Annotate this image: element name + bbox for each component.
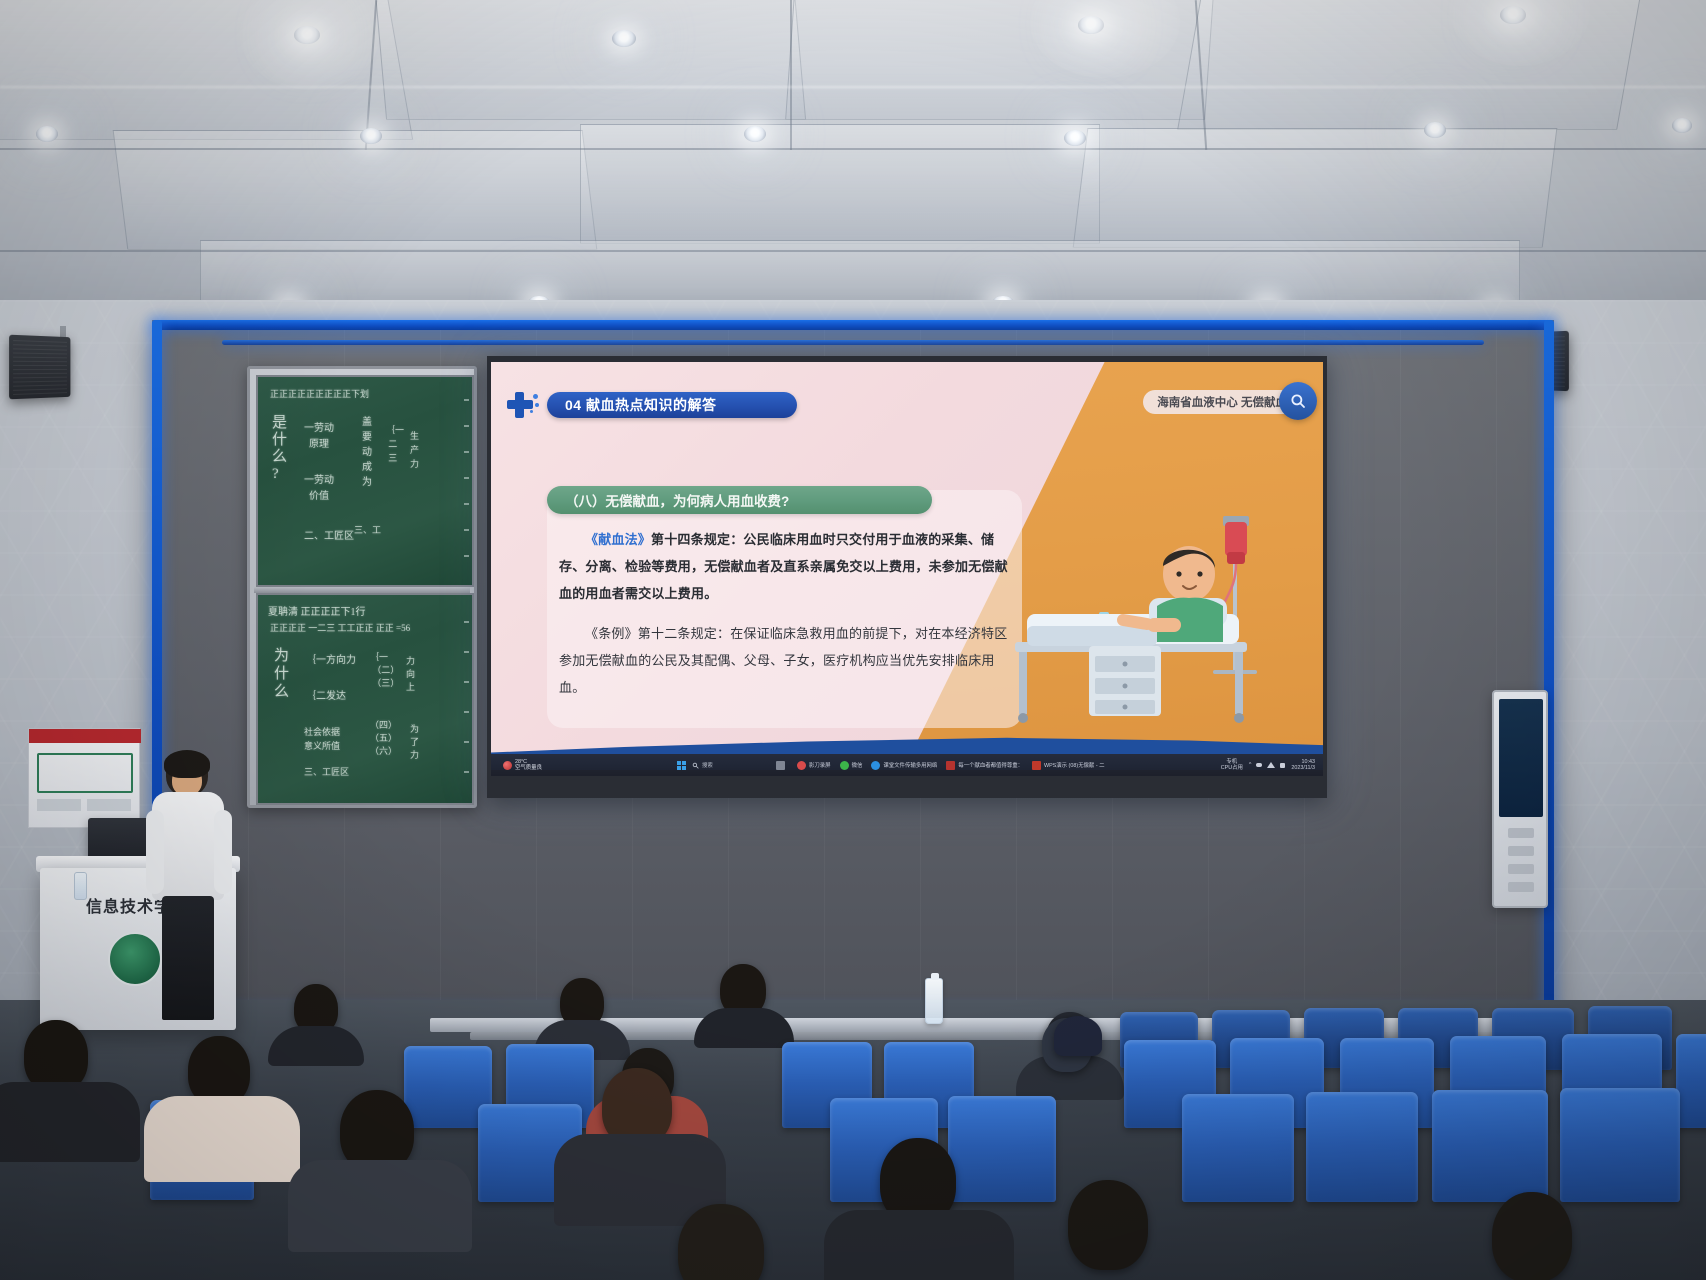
stage-frame-inner-top xyxy=(222,340,1484,345)
seat xyxy=(1182,1094,1294,1202)
water-bottle xyxy=(74,872,87,900)
network-icon[interactable] xyxy=(1267,762,1275,768)
law-reference-link[interactable]: 《献血法》 xyxy=(585,532,651,547)
patient-receiving-transfusion-illustration xyxy=(997,494,1297,724)
taskbar-item-label: 每一个献血者都值得尊重： xyxy=(958,761,1023,769)
taskbar-weather[interactable]: 28°C 空气质量良 xyxy=(503,759,542,771)
audience-head xyxy=(1492,1192,1572,1280)
seat xyxy=(1560,1088,1680,1202)
audience-shoulders xyxy=(268,1026,364,1066)
presenter-arm-left xyxy=(146,810,164,894)
audience-head xyxy=(1068,1180,1148,1270)
taskbar-app-list[interactable]: 影刀录屏 微信 课堂文件传输多用网络 每一个献血者都值得尊重： WPS演示 (0… xyxy=(776,761,1105,770)
red-cross-icon xyxy=(505,388,541,422)
slide-paragraph-1: 《献血法》第十四条规定：公民临床用血时只交付用于血液的采集、储存、分离、检验等费… xyxy=(559,526,1011,607)
taskbar-item-word-doc[interactable]: 每一个献血者都值得尊重： xyxy=(946,761,1023,770)
wall-display-button[interactable] xyxy=(1508,882,1534,892)
ceiling-light xyxy=(1078,16,1104,34)
ceiling-light xyxy=(1672,118,1692,133)
weather-icon xyxy=(503,761,512,770)
ceiling-light xyxy=(612,30,636,47)
stage-frame-right xyxy=(1544,320,1554,1020)
weather-label: 空气质量良 xyxy=(515,765,542,771)
audience-shoulders xyxy=(144,1096,300,1182)
blackboard: 正正正正正正正正正下划 是什么? 一劳动 原理 一劳动 价值 二、工匠区 盖要动… xyxy=(247,366,477,808)
chevron-up-icon[interactable]: ^ xyxy=(1249,762,1252,768)
windows-start-icon[interactable] xyxy=(677,761,686,770)
seat xyxy=(948,1096,1056,1202)
search-icon[interactable] xyxy=(1279,382,1317,420)
shelf-header-label xyxy=(29,729,141,743)
seat xyxy=(1432,1090,1548,1202)
presenter-trousers xyxy=(162,896,214,1020)
audience-head-with-cap xyxy=(1054,1016,1102,1056)
water-bottle-on-desk xyxy=(925,978,943,1024)
slide-question-heading: （八）无偿献血，为何病人用血收费? xyxy=(547,486,932,514)
wall-display-button[interactable] xyxy=(1508,846,1534,856)
slide-section-title: 04 献血热点知识的解答 xyxy=(547,392,797,418)
presentation-slide: 04 献血热点知识的解答 海南省血液中心 无偿献血 （八）无偿献血，为何病人用血… xyxy=(491,362,1323,770)
taskbar-item-wechat[interactable]: 微信 xyxy=(840,761,863,770)
windows-taskbar[interactable]: 28°C 空气质量良 搜索 xyxy=(491,754,1323,776)
word-icon xyxy=(946,761,955,770)
slide-header: 04 献血热点知识的解答 xyxy=(505,388,797,422)
ppt-icon xyxy=(1032,761,1041,770)
presenter xyxy=(148,752,240,1020)
blackboard-pane-top: 正正正正正正正正正下划 是什么? 一劳动 原理 一劳动 价值 二、工匠区 盖要动… xyxy=(256,375,474,587)
audience-shoulders xyxy=(694,1008,794,1048)
task-view-icon xyxy=(776,761,785,770)
audience-head xyxy=(678,1204,764,1280)
lecture-hall-photo: 正正正正正正正正正下划 是什么? 一劳动 原理 一劳动 价值 二、工匠区 盖要动… xyxy=(0,0,1706,1280)
volume-icon[interactable] xyxy=(1280,763,1285,768)
ceiling-light xyxy=(1424,122,1446,138)
seat xyxy=(1306,1092,1418,1202)
wall-control-display[interactable] xyxy=(1492,690,1548,908)
taskbar-item-wps-ppt[interactable]: WPS演示 (08)无偿献 - 二 xyxy=(1032,761,1105,770)
clock-date: 2023/11/3 xyxy=(1291,765,1315,771)
wall-display-button[interactable] xyxy=(1508,828,1534,838)
taskbar-clock[interactable]: 10:43 2023/11/3 xyxy=(1291,759,1315,771)
audience-shoulders xyxy=(288,1160,472,1252)
taskbar-system-tray[interactable]: 专机 CPU占用 ^ 10:43 2023/11/3 xyxy=(1221,759,1315,771)
taskbar-item-task-view[interactable] xyxy=(776,761,788,770)
cloud-icon[interactable] xyxy=(1256,763,1262,767)
ceiling-light xyxy=(360,128,382,144)
taskbar-item-label: WPS演示 (08)无偿献 - 二 xyxy=(1044,761,1105,769)
taskbar-search-placeholder: 搜索 xyxy=(702,761,713,769)
cpu-indicator[interactable]: 专机 CPU占用 xyxy=(1221,759,1243,771)
wall-speaker-left xyxy=(9,335,70,400)
taskbar-item-label: 影刀录屏 xyxy=(809,761,831,769)
ceiling-light xyxy=(1064,130,1086,146)
presenter-hair xyxy=(164,750,210,778)
ceiling-light xyxy=(36,126,58,142)
taskbar-item-label: 课堂文件传输多用网络 xyxy=(883,761,937,769)
ceiling-light xyxy=(744,126,766,142)
taskbar-item-wps-office[interactable]: 影刀录屏 xyxy=(797,761,831,770)
audience-shoulders xyxy=(0,1082,140,1162)
seat xyxy=(1676,1034,1706,1128)
audience-shoulders xyxy=(824,1210,1014,1280)
wall-display-button[interactable] xyxy=(1508,864,1534,874)
equipment-shelf xyxy=(28,728,140,828)
stage-frame-top xyxy=(152,320,1554,330)
slide-paragraph-2: 《条例》第十二条规定：在保证临床急救用血的前提下，对在本经济特区参加无偿献血的公… xyxy=(559,620,1011,701)
app-icon xyxy=(840,761,849,770)
projection-screen: 04 献血热点知识的解答 海南省血液中心 无偿献血 （八）无偿献血，为何病人用血… xyxy=(487,356,1327,798)
blackboard-pane-bottom: 夏聃清 正正正正下1行 正正正正 一二三 工工正正 正正 =56 为什么 ｛一方… xyxy=(256,593,474,805)
wall-display-screen xyxy=(1499,699,1543,817)
taskbar-item-browser[interactable]: 课堂文件传输多用网络 xyxy=(871,761,937,770)
brand-badge: 海南省血液中心 无偿献血 xyxy=(1143,390,1299,414)
taskbar-item-label: 微信 xyxy=(852,761,863,769)
presenter-arm-right xyxy=(214,810,232,894)
taskbar-search[interactable]: 搜索 xyxy=(692,761,713,769)
app-icon xyxy=(797,761,806,770)
cpu-label-2: CPU占用 xyxy=(1221,765,1243,771)
ceiling-light xyxy=(1500,6,1526,24)
search-icon xyxy=(692,762,699,769)
app-icon xyxy=(871,761,880,770)
ceiling-light xyxy=(294,26,320,44)
taskbar-center[interactable]: 搜索 xyxy=(677,761,713,770)
